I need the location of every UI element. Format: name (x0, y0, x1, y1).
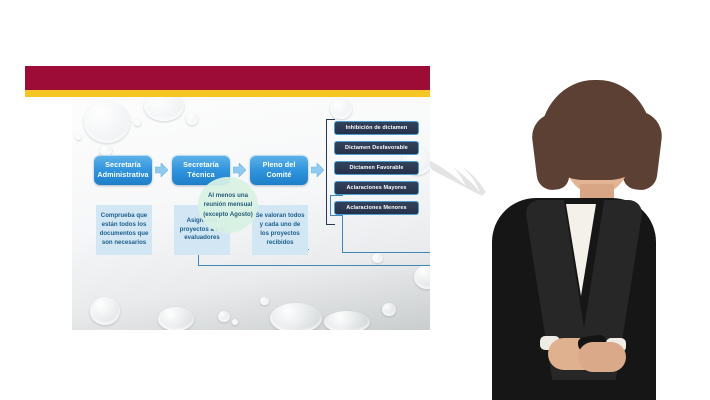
callout-label: Al menos una reunión mensual (excepto Ag… (202, 191, 254, 218)
feedback-connector-line (198, 265, 434, 267)
detail-box-label: Se valoran todos y cada uno de los proye… (255, 212, 305, 247)
arrow-right-icon (233, 163, 246, 177)
outcome-box-label: Aclaraciones Menores (346, 205, 406, 211)
hair-top (540, 80, 652, 180)
bubble-decoration (330, 99, 352, 119)
outcome-box-label: Dictamen Favorable (349, 165, 403, 171)
process-box-pleno-del-comite[interactable]: Pleno del Comité (250, 155, 308, 185)
feedback-connector-line (308, 249, 310, 250)
bubble-decoration (270, 303, 322, 330)
title-bar-maroon (25, 66, 487, 90)
detail-box-valoracion: Se valoran todos y cada uno de los proye… (252, 205, 308, 255)
bubble-decoration (324, 311, 370, 330)
bubble-decoration (372, 253, 383, 263)
outcome-box-inhibicion-de-dictamen[interactable]: Inhibición de dictamen (334, 121, 419, 135)
outcome-box-aclaraciones-mayores[interactable]: Aclaraciones Mayores (334, 181, 419, 195)
outcome-box-label: Aclaraciones Mayores (346, 185, 406, 191)
title-bar-accent (25, 90, 487, 97)
bubble-decoration (186, 113, 198, 125)
outcome-box-aclaraciones-menores[interactable]: Aclaraciones Menores (334, 201, 419, 215)
feedback-connector-line (342, 215, 344, 253)
bubble-decoration (144, 97, 184, 121)
bubble-decoration (84, 101, 130, 143)
arrow-right-icon (311, 163, 324, 177)
process-box-label: Pleno del Comité (252, 160, 306, 179)
feedback-connector-line (342, 252, 432, 254)
process-box-label: Secretaría Administrativa (96, 160, 150, 179)
outcome-box-label: Inhibición de dictamen (346, 125, 408, 131)
detail-box-label: Comprueba que están todos los documentos… (99, 212, 149, 247)
hand-right (578, 342, 626, 372)
presenter-figure (486, 80, 662, 400)
bubble-decoration (382, 303, 396, 316)
detail-box-documentos: Comprueba que están todos los documentos… (96, 205, 152, 255)
process-box-label: Secretaría Técnica (174, 160, 228, 179)
bubble-decoration (134, 119, 141, 126)
bubble-decoration (76, 135, 81, 140)
video-lecture-frame: UNIVERSIDAD D SEVILLA 1505 (0, 0, 710, 400)
bubble-decoration (218, 311, 230, 322)
outcome-box-label: Dictamen Desfavorable (345, 145, 408, 151)
arrow-right-icon (155, 163, 168, 177)
bubble-decoration (158, 307, 194, 330)
outcome-box-dictamen-desfavorable[interactable]: Dictamen Desfavorable (334, 141, 419, 155)
outcome-box-dictamen-favorable[interactable]: Dictamen Favorable (334, 161, 419, 175)
bubble-decoration (260, 297, 269, 305)
bubble-decoration (232, 319, 238, 325)
process-box-secretaria-administrativa[interactable]: Secretaría Administrativa (94, 155, 152, 185)
slide-content: Secretaría Administrativa Secretaría Téc… (72, 97, 447, 330)
presenter-video (430, 0, 710, 400)
bubble-decoration (90, 297, 120, 325)
callout-reunion-mensual: Al menos una reunión mensual (excepto Ag… (198, 177, 258, 233)
